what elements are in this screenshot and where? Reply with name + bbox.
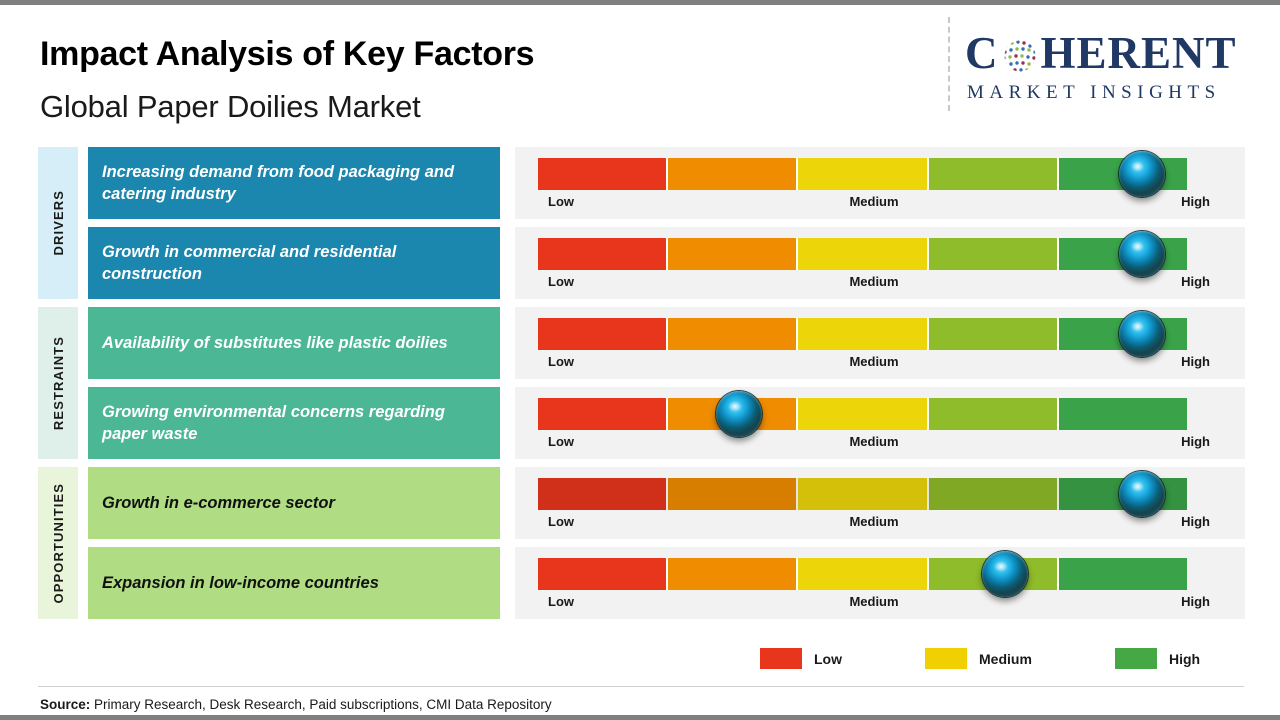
category-label-opportunities: OPPORTUNITIES [38, 467, 78, 619]
factor-text: Increasing demand from food packaging an… [102, 161, 486, 206]
scale-label-high: High [1181, 274, 1210, 289]
globe-icon [1000, 35, 1040, 75]
legend-item-low: Low [760, 648, 842, 669]
source-label: Source: [40, 697, 90, 712]
gauge-segment-2 [668, 558, 798, 590]
impact-gauge: LowMediumHigh [515, 307, 1245, 379]
gauge-segment-4 [929, 318, 1059, 350]
impact-gauge: LowMediumHigh [515, 547, 1245, 619]
gauge-segment-3 [798, 158, 928, 190]
scale-label-low: Low [548, 194, 574, 209]
scale-label-high: High [1181, 434, 1210, 449]
scale-label-high: High [1181, 514, 1210, 529]
factor-text: Growing environmental concerns regarding… [102, 401, 486, 446]
scale-label-low: Low [548, 594, 574, 609]
gauge-segment-1 [538, 238, 668, 270]
footer-divider [38, 686, 1244, 687]
gauge-scale: LowMediumHigh [538, 274, 1210, 294]
gauge-segment-2 [668, 478, 798, 510]
company-logo: C [965, 27, 1265, 107]
gauge-segment-1 [538, 158, 668, 190]
scale-label-medium: Medium [849, 514, 898, 529]
scale-label-low: Low [548, 514, 574, 529]
factor-text: Expansion in low-income countries [102, 572, 379, 594]
category-label-drivers: DRIVERS [38, 147, 78, 299]
legend-label: High [1169, 651, 1200, 667]
gauge-segment-3 [798, 478, 928, 510]
gauge-segment-3 [798, 558, 928, 590]
gauge-segment-1 [538, 478, 668, 510]
factor-text: Growth in e-commerce sector [102, 492, 335, 514]
source-text: Primary Research, Desk Research, Paid su… [90, 697, 551, 712]
gauge-scale: LowMediumHigh [538, 354, 1210, 374]
scale-label-medium: Medium [849, 434, 898, 449]
gauge-bar [538, 478, 1187, 510]
scale-label-medium: Medium [849, 594, 898, 609]
factor-text: Availability of substitutes like plastic… [102, 332, 448, 354]
impact-marker[interactable] [1119, 471, 1165, 517]
logo-tagline: MARKET INSIGHTS [967, 82, 1265, 104]
impact-marker[interactable] [716, 391, 762, 437]
gauge-segment-4 [929, 478, 1059, 510]
scale-label-low: Low [548, 434, 574, 449]
logo-wordmark: C [965, 27, 1265, 79]
impact-gauge: LowMediumHigh [515, 387, 1245, 459]
impact-gauge: LowMediumHigh [515, 227, 1245, 299]
impact-gauge: LowMediumHigh [515, 467, 1245, 539]
scale-label-medium: Medium [849, 274, 898, 289]
factor-box: Growing environmental concerns regarding… [88, 387, 500, 459]
gauge-segment-4 [929, 398, 1059, 430]
legend-swatch [925, 648, 967, 669]
scale-label-medium: Medium [849, 354, 898, 369]
legend-swatch [760, 648, 802, 669]
gauge-bar [538, 158, 1187, 190]
legend-item-medium: Medium [925, 648, 1032, 669]
gauge-scale: LowMediumHigh [538, 594, 1210, 614]
scale-label-high: High [1181, 354, 1210, 369]
legend-swatch [1115, 648, 1157, 669]
impact-marker[interactable] [1119, 151, 1165, 197]
gauge-segment-1 [538, 558, 668, 590]
slide-header: Impact Analysis of Key Factors Global Pa… [0, 5, 1280, 137]
category-label-text: DRIVERS [51, 190, 66, 256]
gauge-segment-3 [798, 238, 928, 270]
category-label-text: RESTRAINTS [51, 336, 66, 430]
factor-box: Growth in commercial and residential con… [88, 227, 500, 299]
gauge-bar [538, 558, 1187, 590]
category-label-text: OPPORTUNITIES [51, 483, 66, 603]
gauge-segment-3 [798, 398, 928, 430]
impact-gauge: LowMediumHigh [515, 147, 1245, 219]
gauge-segment-1 [538, 398, 668, 430]
impact-marker[interactable] [1119, 311, 1165, 357]
gauge-bar [538, 238, 1187, 270]
factor-box: Increasing demand from food packaging an… [88, 147, 500, 219]
factor-box: Expansion in low-income countries [88, 547, 500, 619]
gauge-segment-3 [798, 318, 928, 350]
source-note: Source: Primary Research, Desk Research,… [40, 697, 552, 712]
gauge-segment-2 [668, 318, 798, 350]
impact-matrix: DRIVERSIncreasing demand from food packa… [0, 137, 1280, 622]
scale-label-medium: Medium [849, 194, 898, 209]
gauge-scale: LowMediumHigh [538, 434, 1210, 454]
page-subtitle: Global Paper Doilies Market [40, 89, 421, 125]
chart-legend: LowMediumHigh [760, 648, 1200, 676]
scale-label-high: High [1181, 594, 1210, 609]
factor-box: Growth in e-commerce sector [88, 467, 500, 539]
gauge-segment-2 [668, 238, 798, 270]
gauge-bar [538, 318, 1187, 350]
gauge-segment-4 [929, 238, 1059, 270]
legend-item-high: High [1115, 648, 1200, 669]
gauge-segment-5 [1059, 398, 1187, 430]
scale-label-high: High [1181, 194, 1210, 209]
gauge-segment-2 [668, 158, 798, 190]
factor-text: Growth in commercial and residential con… [102, 241, 486, 286]
gauge-segment-5 [1059, 558, 1187, 590]
factor-box: Availability of substitutes like plastic… [88, 307, 500, 379]
legend-label: Medium [979, 651, 1032, 667]
impact-marker[interactable] [982, 551, 1028, 597]
gauge-segment-1 [538, 318, 668, 350]
gauge-scale: LowMediumHigh [538, 514, 1210, 534]
scale-label-low: Low [548, 274, 574, 289]
page-title: Impact Analysis of Key Factors [40, 35, 534, 74]
slide-canvas: Impact Analysis of Key Factors Global Pa… [0, 0, 1280, 720]
logo-word-rest: HERENT [1041, 27, 1237, 79]
category-label-restraints: RESTRAINTS [38, 307, 78, 459]
scale-label-low: Low [548, 354, 574, 369]
gauge-scale: LowMediumHigh [538, 194, 1210, 214]
logo-divider [948, 17, 950, 111]
logo-letter-c: C [965, 27, 999, 79]
gauge-bar [538, 398, 1187, 430]
impact-marker[interactable] [1119, 231, 1165, 277]
gauge-segment-4 [929, 158, 1059, 190]
legend-label: Low [814, 651, 842, 667]
